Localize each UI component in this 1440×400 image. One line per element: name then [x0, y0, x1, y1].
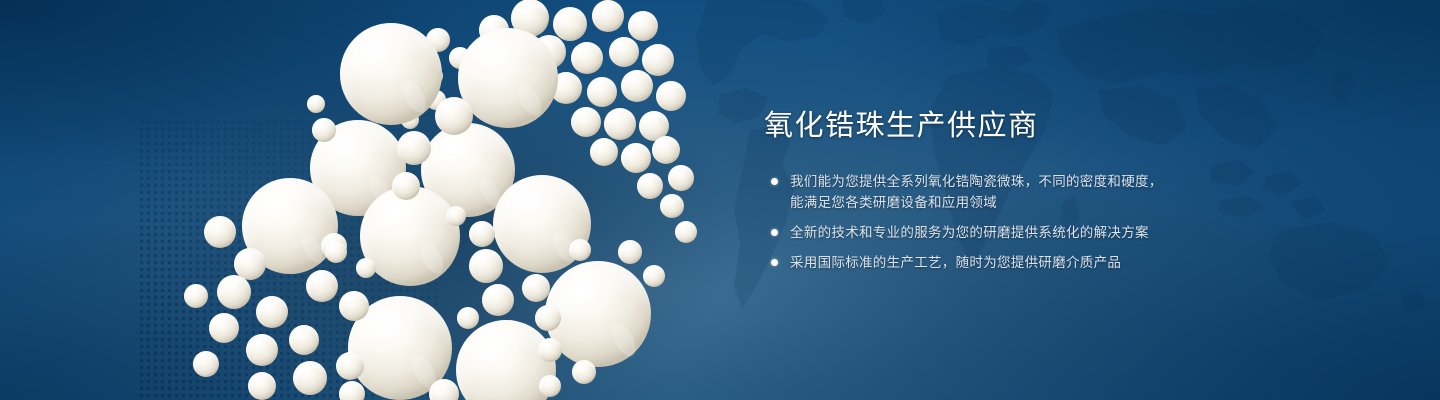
bullet-dot-icon: [771, 229, 778, 236]
zirconia-beads-image: [138, 0, 762, 400]
bullet-text-line1: 全新的技术和专业的服务为您的研磨提供系统化的解决方案: [790, 225, 1149, 240]
bullet-item: 采用国际标准的生产工艺，随时为您提供研磨介质产品: [764, 252, 1234, 273]
banner-bullet-list: 我们能为您提供全系列氧化锆陶瓷微珠，不同的密度和硬度， 能满足您各类研磨设备和应…: [764, 171, 1234, 273]
bullet-dot-icon: [771, 178, 778, 185]
banner-copy: 氧化锆珠生产供应商 我们能为您提供全系列氧化锆陶瓷微珠，不同的密度和硬度， 能满…: [764, 108, 1234, 273]
bullet-dot-icon: [771, 259, 778, 266]
bullet-text-line1: 我们能为您提供全系列氧化锆陶瓷微珠，不同的密度和硬度，: [790, 174, 1163, 189]
banner-headline: 氧化锆珠生产供应商: [764, 108, 1234, 144]
bullet-item: 全新的技术和专业的服务为您的研磨提供系统化的解决方案: [764, 222, 1234, 243]
bullet-item: 我们能为您提供全系列氧化锆陶瓷微珠，不同的密度和硬度， 能满足您各类研磨设备和应…: [764, 171, 1234, 213]
bullet-text-line1: 采用国际标准的生产工艺，随时为您提供研磨介质产品: [790, 255, 1121, 270]
hero-banner: 氧化锆珠生产供应商 我们能为您提供全系列氧化锆陶瓷微珠，不同的密度和硬度， 能满…: [0, 0, 1440, 400]
bullet-text-line2: 能满足您各类研磨设备和应用领域: [790, 192, 1234, 213]
